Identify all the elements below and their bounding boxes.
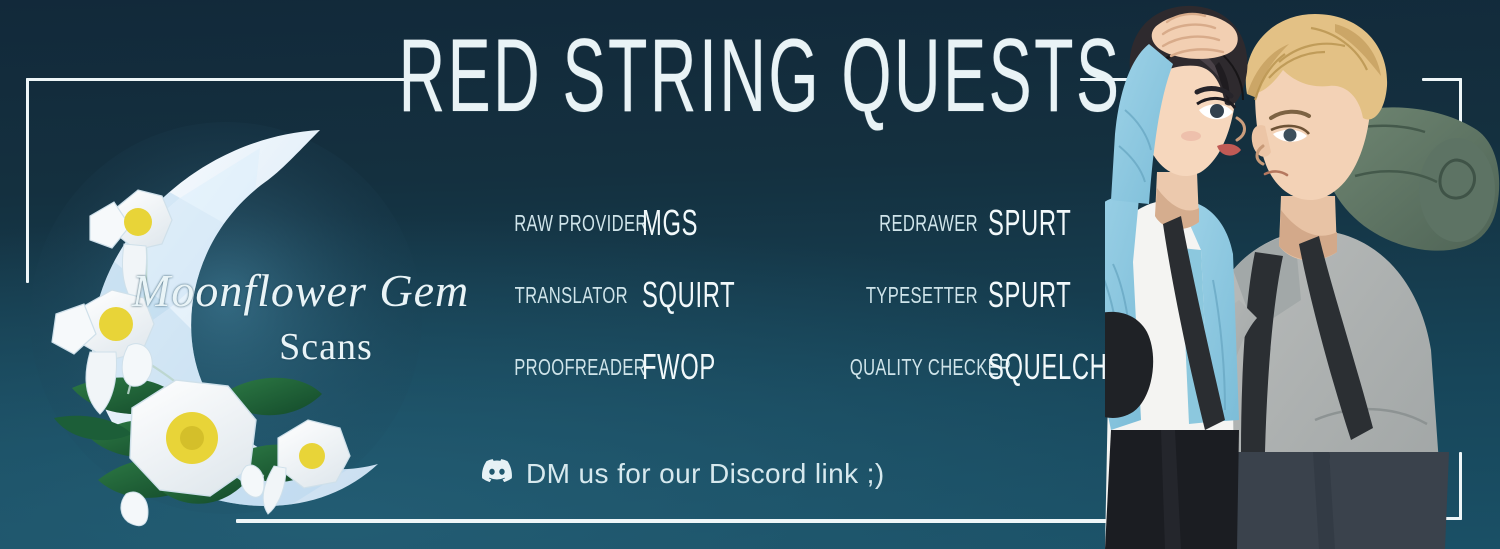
character-dark-hair: [1105, 6, 1247, 549]
credit-value: SQUELCH: [988, 349, 1107, 385]
character-artwork: [1105, 0, 1500, 549]
moonflower-gem-logo: Moonflower Gem Scans: [20, 108, 440, 528]
credits-block: RAW PROVIDER MGS TRANSLATOR SQUIRT PROOF…: [470, 196, 1090, 386]
credit-value: SQUIRT: [642, 277, 735, 313]
credit-value: SPURT: [988, 277, 1071, 313]
credit-row: REDRAWER SPURT: [800, 200, 1090, 246]
discord-invite-text: DM us for our Discord link ;): [526, 458, 885, 490]
credits-right-column: REDRAWER SPURT TYPESETTER SPURT QUALITY …: [800, 196, 1090, 386]
discord-icon: [482, 459, 512, 489]
credit-value: FWOP: [642, 349, 716, 385]
logo-script-line-1: Moonflower Gem: [132, 268, 432, 314]
credit-label: TRANSLATOR: [514, 284, 628, 307]
frame-line-top-left-horizontal: [26, 78, 420, 81]
credit-row: TYPESETTER SPURT: [800, 272, 1090, 318]
discord-invite[interactable]: DM us for our Discord link ;): [482, 452, 885, 496]
credit-row: QUALITY CHECKER SQUELCH: [800, 344, 1090, 390]
credit-label: PROOFREADER: [514, 356, 628, 379]
credit-row: TRANSLATOR SQUIRT: [470, 272, 760, 318]
banner-root: RED STRING QUESTS: [0, 0, 1500, 549]
credits-left-column: RAW PROVIDER MGS TRANSLATOR SQUIRT PROOF…: [470, 196, 760, 386]
credit-label: TYPESETTER: [850, 284, 978, 307]
credit-label: REDRAWER: [850, 212, 978, 235]
credit-row: RAW PROVIDER MGS: [470, 200, 760, 246]
credit-value: SPURT: [988, 205, 1071, 241]
logo-script-line-2: Scans: [216, 328, 436, 366]
page-title: RED STRING QUESTS: [562, 18, 959, 134]
credit-value: MGS: [642, 205, 698, 241]
credit-label: QUALITY CHECKER: [850, 356, 978, 379]
credit-row: PROOFREADER FWOP: [470, 344, 760, 390]
credit-label: RAW PROVIDER: [514, 212, 628, 235]
